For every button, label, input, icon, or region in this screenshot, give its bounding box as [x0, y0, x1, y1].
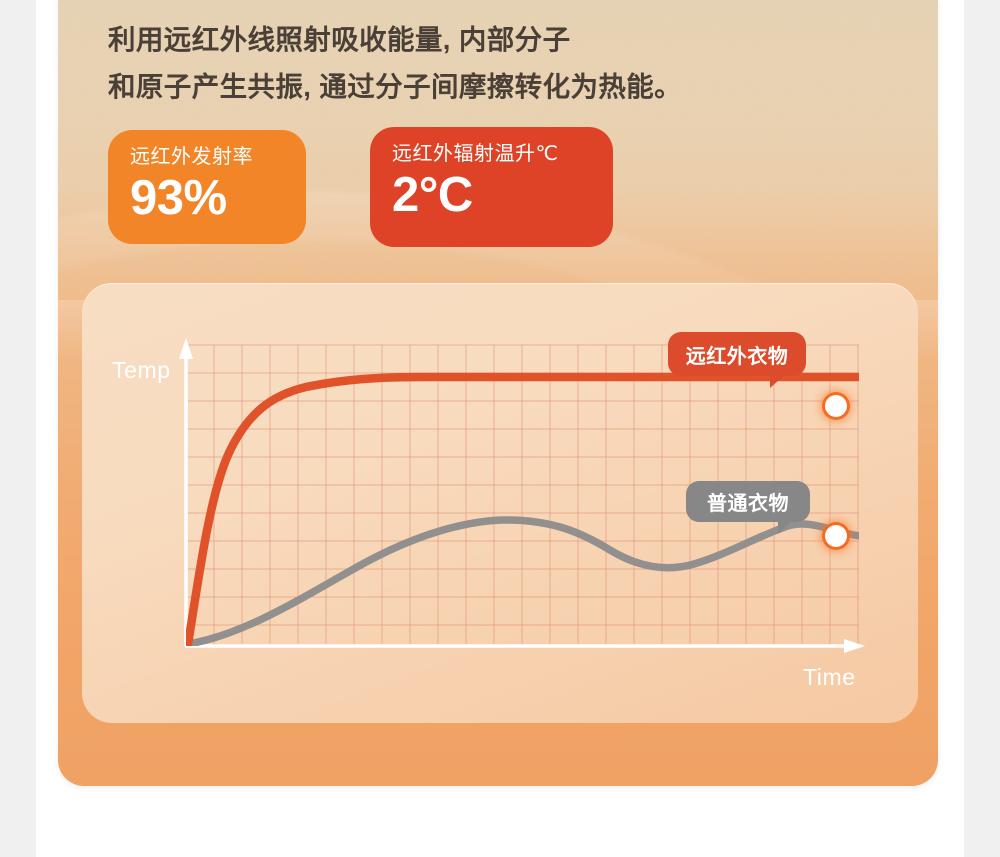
- stat-chip-temp-rise: 远红外辐射温升℃ 2°C: [370, 127, 613, 247]
- endpoint-marker-infrared: [825, 395, 847, 417]
- stat-label-temp-rise: 远红外辐射温升℃: [392, 141, 591, 167]
- chart-y-axis-label: Temp: [112, 357, 171, 384]
- callout-infrared-label: 远红外衣物: [686, 340, 789, 369]
- callout-normal-label: 普通衣物: [707, 487, 789, 516]
- stat-value-emissivity: 93%: [130, 170, 284, 226]
- callout-normal-clothing: 普通衣物: [686, 481, 810, 522]
- chart-x-axis-label: Time: [803, 664, 856, 691]
- chart-x-axis: [185, 639, 865, 653]
- stat-value-temp-rise: 2°C: [392, 167, 591, 223]
- callout-infrared-tail: [770, 372, 788, 388]
- stat-label-emissivity: 远红外发射率: [130, 144, 284, 170]
- callout-infrared-clothing: 远红外衣物: [668, 332, 806, 376]
- headline-text: 利用远红外线照射吸收能量, 内部分子 和原子产生共振, 通过分子间摩擦转化为热能…: [108, 16, 808, 110]
- callout-normal-tail: [778, 519, 794, 534]
- stat-chip-emissivity: 远红外发射率 93%: [108, 130, 306, 244]
- endpoint-marker-normal: [825, 525, 847, 547]
- page-root: 利用远红外线照射吸收能量, 内部分子 和原子产生共振, 通过分子间摩擦转化为热能…: [0, 0, 1000, 857]
